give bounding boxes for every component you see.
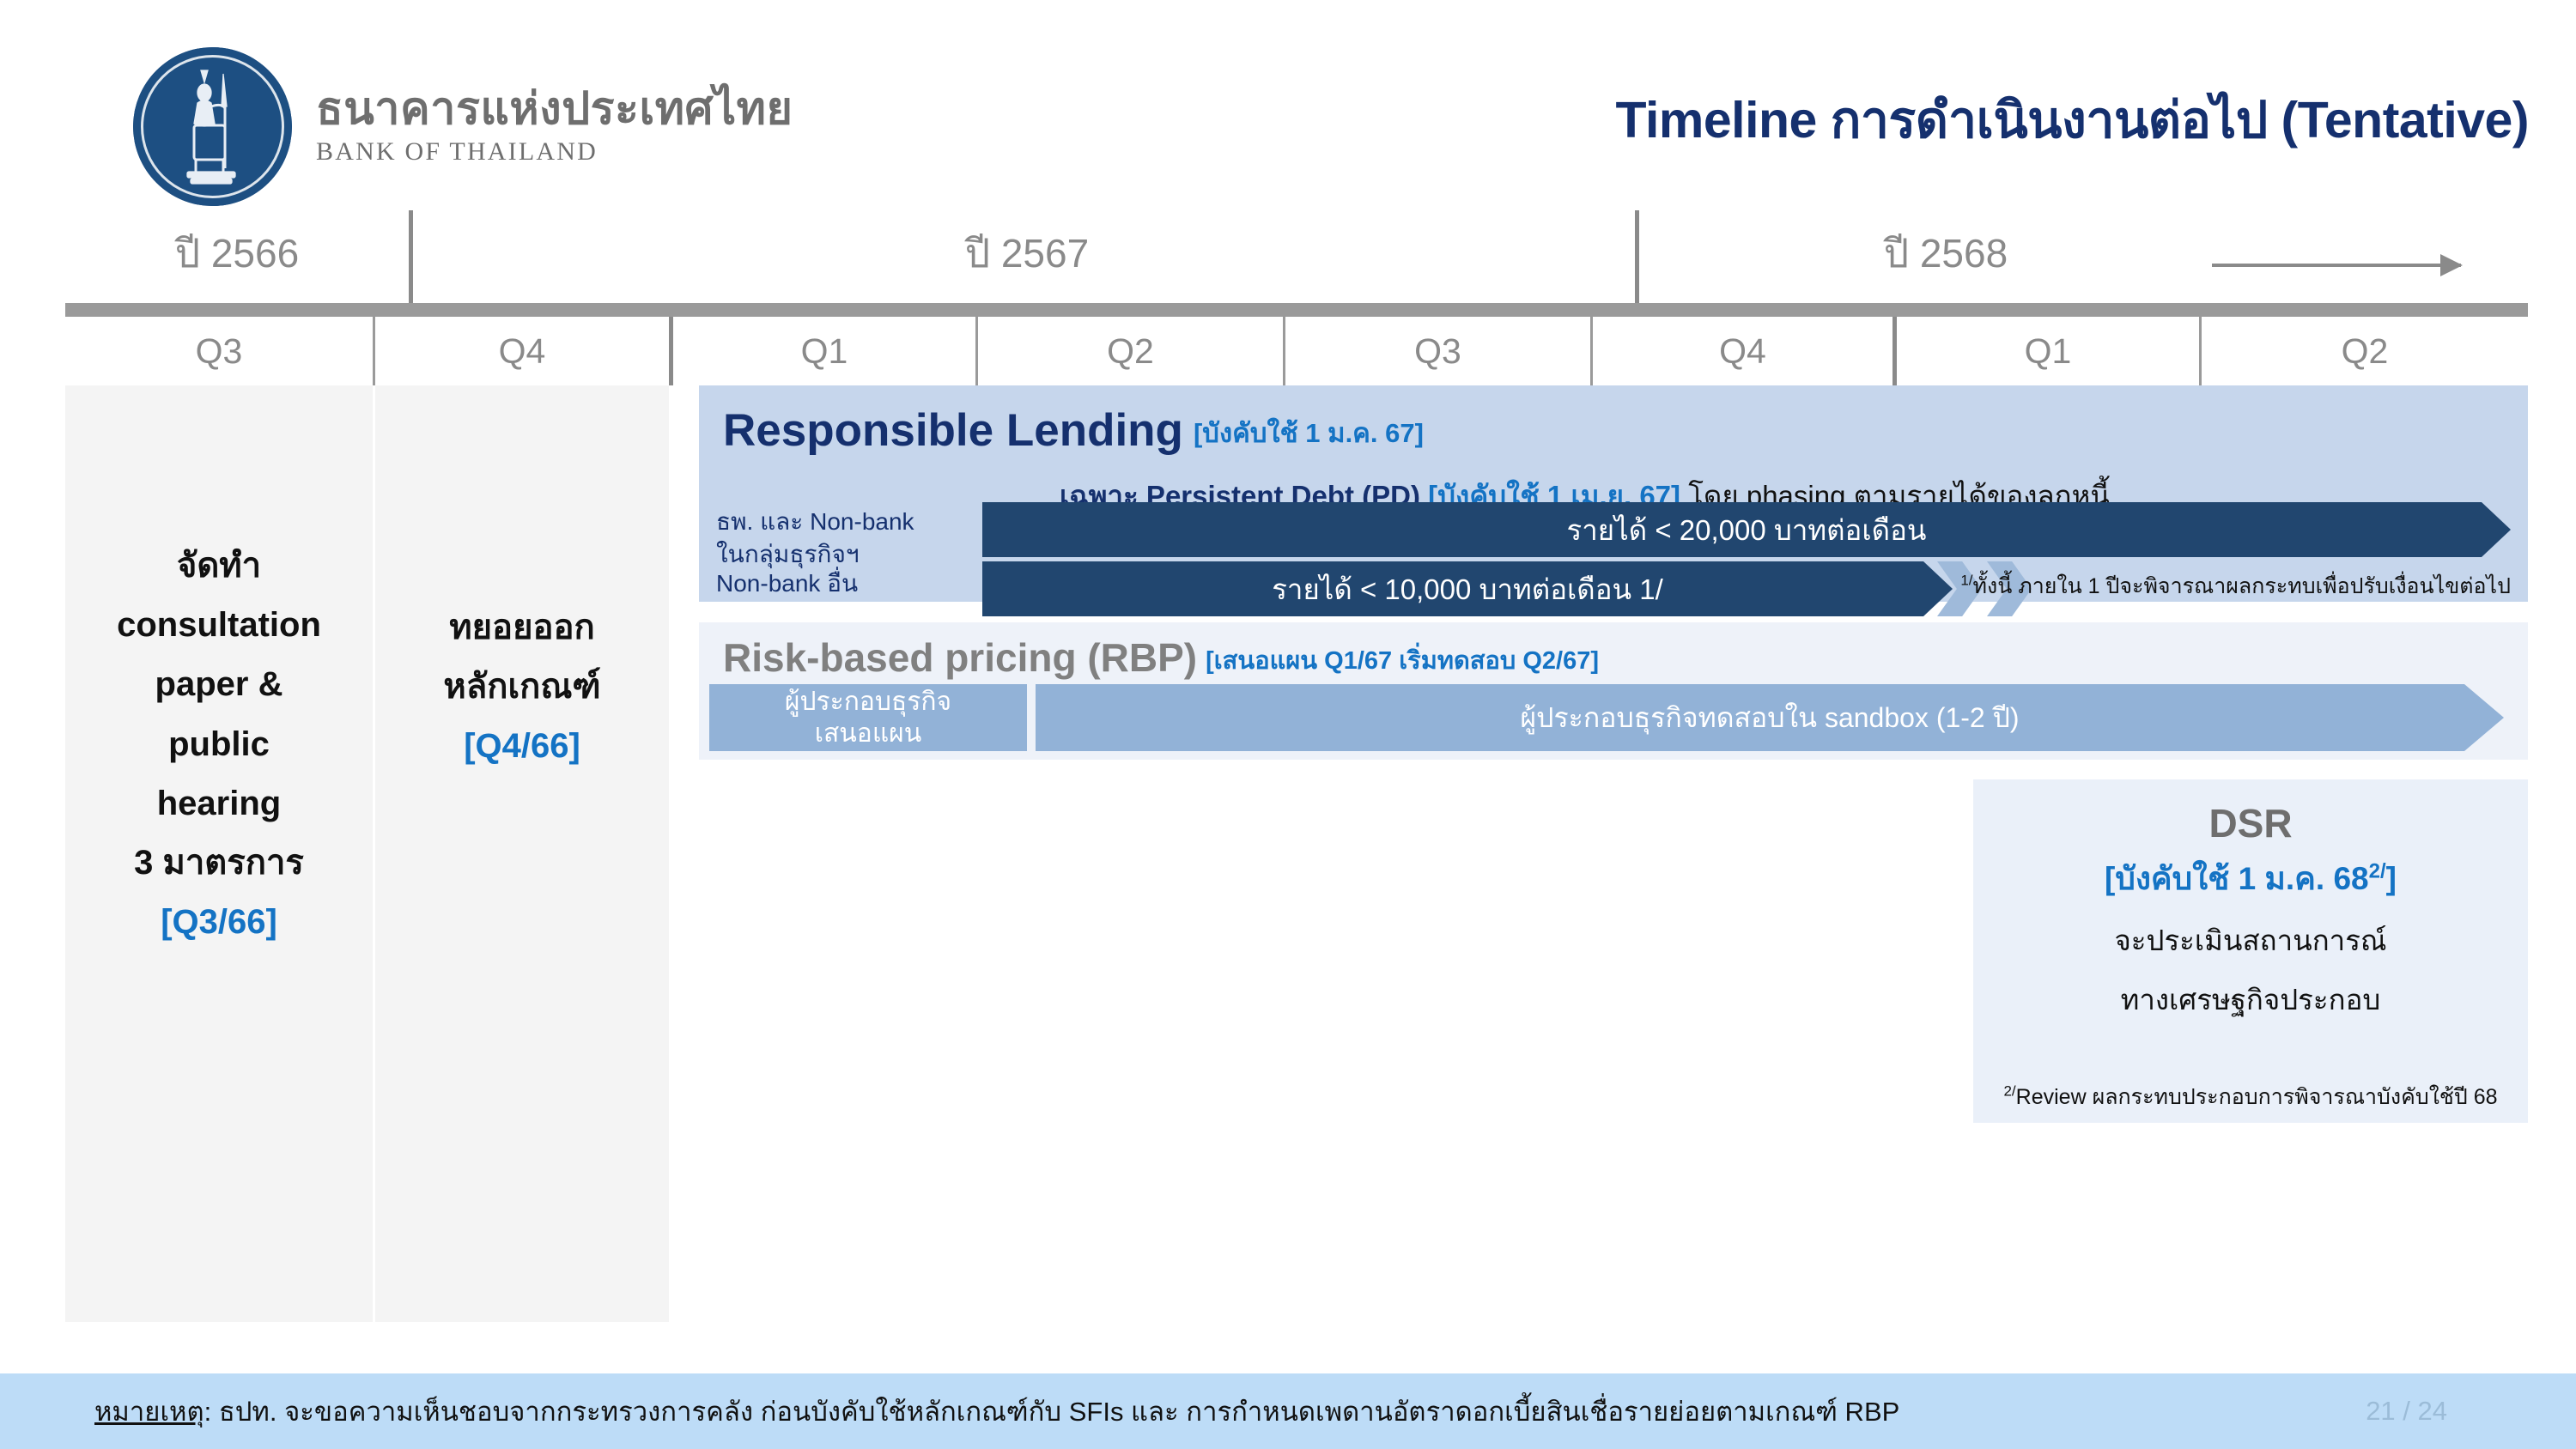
q3-line-0: จัดทำ (65, 537, 373, 596)
rl-footnote-text: ทั้งนี้ ภายใน 1 ปีจะพิจารณาผลกระทบเพื่อป… (1973, 574, 2511, 598)
column-text-q3-66: จัดทำ consultation paper & public hearin… (65, 537, 373, 952)
year-label-2566: ปี 2566 (65, 222, 409, 285)
dsr-title: DSR (1973, 800, 2528, 846)
rl-row-1-bar: รายได้ < 10,000 บาทต่อเดือน 1/ (982, 561, 1953, 616)
dsr-footnote-mark: 2/ (2003, 1083, 2015, 1100)
footer-bar: หมายเหตุ: ธปท. จะขอความเห็นชอบจากกระทรวง… (0, 1373, 2576, 1449)
q3-line-5: 3 มาตรการ (65, 834, 373, 893)
rl-row-0-label: ธพ. และ Non-bank ในกลุ่มธุรกิจฯ (716, 506, 957, 571)
q4-line-1: หลักเกณฑ์ (375, 658, 669, 717)
quarter-cell-3: Q2 (978, 317, 1283, 385)
q3-line-3: public (65, 715, 373, 774)
dsr-eff-mark: 2/ (2369, 860, 2386, 883)
rbp-title-text: Risk-based pricing (RBP) (723, 635, 1197, 680)
column-bg-q4-66 (375, 385, 669, 1322)
rl-row-1-label-line1: Non-bank อื่น (716, 567, 957, 600)
responsible-lending-title: Responsible Lending[บังคับใช้ 1 ม.ค. 67] (723, 404, 1424, 457)
q3-line-1: consultation (65, 596, 373, 655)
footer-note: หมายเหตุ: ธปท. จะขอความเห็นชอบจากกระทรวง… (94, 1390, 1899, 1433)
timeline-continues-arrow-icon (2212, 264, 2461, 267)
rbp-left-box: ผู้ประกอบธุรกิจ เสนอแผน (709, 684, 1027, 751)
quarter-header-row: Q3 Q4 Q1 Q2 Q3 Q4 Q1 Q2 (65, 317, 2528, 385)
rbp-left-line2: เสนอแผน (815, 718, 922, 750)
year-header-row: ปี 2566 ปี 2567 ปี 2568 (65, 210, 2528, 303)
bot-seal-icon (133, 47, 292, 206)
q4-line-0: ทยอยออก (375, 598, 669, 658)
dsr-eff-suffix: ] (2386, 861, 2397, 896)
dsr-footnote-text: Review ผลกระทบประกอบการพิจารณาบังคับใช้ป… (2016, 1085, 2498, 1109)
year-label-2568: ปี 2568 (1645, 222, 2246, 285)
logo-thai-name: ธนาคารแห่งประเทศไทย (316, 86, 793, 133)
year-divider-1 (409, 210, 413, 303)
rbp-effective-badge: [เสนอแผน Q1/67 เริ่มทดสอบ Q2/67] (1206, 647, 1599, 675)
footer-note-label: หมายเหตุ (94, 1397, 204, 1427)
rl-row-0-label-line2: ในกลุ่มธุรกิจฯ (716, 538, 957, 571)
dsr-line-2: ทางเศรษฐกิจประกอบ (1973, 977, 2528, 1022)
rbp-title: Risk-based pricing (RBP)[เสนอแผน Q1/67 เ… (723, 634, 1599, 681)
bot-logo: ธนาคารแห่งประเทศไทย BANK OF THAILAND (133, 47, 793, 206)
rbp-sandbox-bar: ผู้ประกอบธุรกิจทดสอบใน sandbox (1-2 ปี) (1036, 684, 2504, 751)
quarter-cell-2: Q1 (673, 317, 975, 385)
logo-english-name: BANK OF THAILAND (316, 136, 793, 167)
rbp-panel: Risk-based pricing (RBP)[เสนอแผน Q1/67 เ… (699, 622, 2528, 760)
quarter-cell-0: Q3 (65, 317, 373, 385)
timeline-grid: ปี 2566 ปี 2567 ปี 2568 Q3 Q4 Q1 Q2 Q3 Q… (65, 210, 2528, 1322)
dsr-panel: DSR [บังคับใช้ 1 ม.ค. 682/] จะประเมินสถา… (1973, 779, 2528, 1123)
year-divider-2 (1635, 210, 1639, 303)
dsr-effective-badge: [บังคับใช้ 1 ม.ค. 682/] (1973, 853, 2528, 904)
responsible-lending-panel: Responsible Lending[บังคับใช้ 1 ม.ค. 67]… (699, 385, 2528, 602)
footer-note-text: : ธปท. จะขอความเห็นชอบจากกระทรวงการคลัง … (204, 1397, 1900, 1427)
rl-effective-badge: [บังคับใช้ 1 ม.ค. 67] (1194, 418, 1424, 448)
rl-row-0-bar: รายได้ < 20,000 บาทต่อเดือน (982, 502, 2511, 557)
quarter-header-bar (65, 303, 2528, 317)
q4-quarter-tag: [Q4/66] (375, 717, 669, 776)
page-number: 21 / 24 (2366, 1396, 2447, 1427)
quarter-cell-5: Q4 (1593, 317, 1893, 385)
rl-footnote: 1/ทั้งนี้ ภายใน 1 ปีจะพิจารณาผลกระทบเพื่… (1960, 569, 2511, 603)
year-label-2567: ปี 2567 (417, 222, 1637, 285)
quarter-cell-6: Q1 (1897, 317, 2199, 385)
column-text-q4-66: ทยอยออก หลักเกณฑ์ [Q4/66] (375, 598, 669, 777)
quarter-cell-7: Q2 (2202, 317, 2528, 385)
q3-quarter-tag: [Q3/66] (65, 893, 373, 952)
q3-line-4: hearing (65, 774, 373, 834)
dsr-eff-prefix: [บังคับใช้ 1 ม.ค. 68 (2105, 861, 2369, 896)
dsr-footnote: 2/Review ผลกระทบประกอบการพิจารณาบังคับใช… (1978, 1080, 2523, 1114)
rl-title-text: Responsible Lending (723, 405, 1183, 456)
slide-root: ธนาคารแห่งประเทศไทย BANK OF THAILAND Tim… (0, 0, 2576, 1449)
rl-row-0-label-line1: ธพ. และ Non-bank (716, 506, 957, 538)
page-title: Timeline การดำเนินงานต่อไป (Tentative) (1616, 79, 2529, 160)
quarter-cell-1: Q4 (375, 317, 669, 385)
rl-row-1-label: Non-bank อื่น (716, 567, 957, 600)
q3-line-2: paper & (65, 655, 373, 714)
rbp-left-line1: ผู้ประกอบธุรกิจ (785, 686, 951, 718)
dsr-line-1: จะประเมินสถานการณ์ (1973, 918, 2528, 963)
quarter-cell-4: Q3 (1285, 317, 1590, 385)
rl-footnote-mark: 1/ (1960, 573, 1972, 589)
